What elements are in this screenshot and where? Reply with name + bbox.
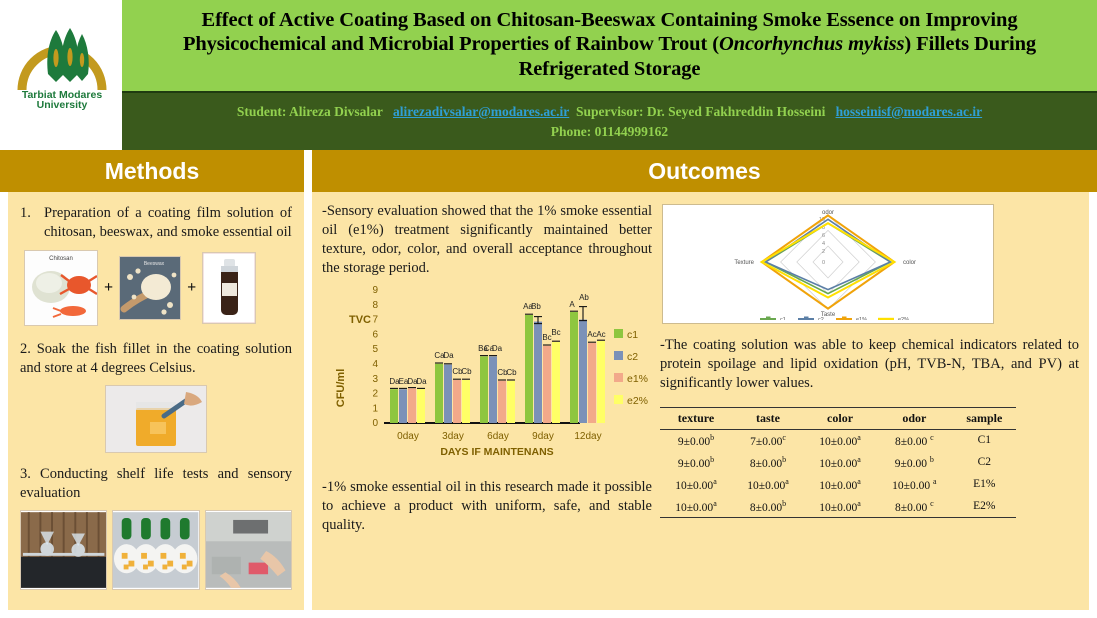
chitosan-photo-caption: Chitosan: [49, 256, 73, 262]
table-header-sample: sample: [953, 407, 1016, 429]
svg-text:3day: 3day: [442, 431, 464, 442]
bar-legend-label-c1: c1: [627, 329, 638, 341]
bar-chart-xlabel: DAYS IF MAINTENANS: [440, 446, 553, 458]
methods-panel: 1. Preparation of a coating film solutio…: [8, 192, 304, 610]
svg-text:A: A: [569, 300, 575, 309]
cell-odor: 8±0.00 c: [876, 495, 953, 517]
bar-chart-x-ticks: 0day 3day 6day 9day 12day: [397, 431, 601, 442]
tvc-bar-chart: 987 654 321 0 TVC CFU/ml: [322, 283, 652, 468]
svg-text:Ab: Ab: [579, 293, 589, 302]
cell-color: 10±0.00a: [804, 429, 876, 451]
cell-odor: 9±0.00 b: [876, 451, 953, 473]
radar-axis-label-odor: odor: [822, 210, 834, 216]
radar-legend-label-e1: e1%: [856, 317, 867, 320]
supervisor-label: Supervisor: Dr. Seyed Fakhreddin Hossein…: [576, 104, 825, 119]
radar-legend-label-c2: c2: [818, 317, 824, 320]
methods-step-3-image-row: [20, 510, 292, 590]
sensory-evaluation-plates-photo: [112, 510, 199, 590]
bar-legend-label-e2: e2%: [627, 395, 648, 407]
radar-axis-label-color: color: [903, 260, 916, 266]
bar-legend-label-e1: e1%: [627, 373, 648, 385]
cell-taste: 10±0.00a: [732, 473, 804, 495]
svg-text:4: 4: [372, 359, 378, 370]
bar-chart-y-ticks: 987 654 321 0: [372, 285, 378, 429]
bar-chart-legend: c1 c2 e1% e2%: [614, 329, 648, 407]
bar-group-0day: DaEa DaDa: [389, 377, 427, 423]
outcomes-left-column: -Sensory evaluation showed that the 1% s…: [322, 202, 652, 602]
university-logo: Tarbiat Modares University: [12, 12, 112, 112]
cell-texture: 9±0.00b: [660, 429, 732, 451]
radar-series-e1: [762, 215, 895, 308]
table-row: 9±0.00b 8±0.00b 10±0.00a 9±0.00 b C2: [660, 451, 1016, 473]
svg-text:5: 5: [372, 345, 378, 356]
methods-step-2-image-row: [20, 385, 292, 453]
plus-sign-1: +: [104, 279, 113, 297]
svg-text:Bb: Bb: [531, 302, 541, 311]
cell-sample: E1%: [953, 473, 1016, 495]
svg-text:Bc: Bc: [542, 333, 551, 342]
methods-step-3: 3. Conducting shelf life tests and senso…: [20, 465, 292, 503]
cell-color: 10±0.00a: [804, 495, 876, 517]
title-band: Effect of Active Coating Based on Chitos…: [122, 0, 1097, 93]
poster-body: 1. Preparation of a coating film solutio…: [0, 192, 1097, 618]
cell-taste: 8±0.00b: [732, 451, 804, 473]
methods-step-2: 2. Soak the fish fillet in the coating s…: [20, 340, 292, 378]
sensory-scores-table-wrap: texture taste color odor sample 9±0.00b …: [660, 407, 1079, 518]
svg-text:12day: 12day: [574, 431, 601, 442]
svg-text:Cb: Cb: [506, 368, 517, 377]
cell-odor: 8±0.00 c: [876, 429, 953, 451]
poster-root: Tarbiat Modares University Effect of Act…: [0, 0, 1097, 618]
laboratory-bench-photo: [205, 510, 292, 590]
methods-step-1-number: 1.: [20, 204, 34, 242]
bar-group-3day: CaDa CbCb: [434, 351, 472, 423]
sensory-radar-chart-svg: 0 2 4 6 8 10: [668, 208, 988, 320]
outcomes-paragraph-1: -Sensory evaluation showed that the 1% s…: [322, 202, 652, 277]
outcomes-paragraph-2: -1% smoke essential oil in this research…: [322, 478, 652, 535]
outcomes-panel: -Sensory evaluation showed that the 1% s…: [312, 192, 1089, 610]
methods-step-1-text: Preparation of a coating film solution o…: [44, 204, 292, 242]
radar-legend-label-c1: c1: [780, 317, 786, 320]
cell-texture: 9±0.00b: [660, 451, 732, 473]
cell-sample: C2: [953, 451, 1016, 473]
lab-distillation-setup-photo: [20, 510, 107, 590]
svg-text:6: 6: [822, 233, 825, 239]
poster-header: Tarbiat Modares University Effect of Act…: [0, 0, 1097, 150]
fillet-soaking-beaker-photo: [105, 385, 207, 453]
supervisor-email-link[interactable]: hosseinisf@modares.ac.ir: [836, 104, 983, 119]
svg-text:Da: Da: [443, 351, 454, 360]
svg-text:Da: Da: [492, 344, 503, 353]
svg-text:9: 9: [372, 285, 378, 296]
radar-gridlines: [781, 215, 876, 309]
bar-group-6day: BaCaDa CbCb: [478, 344, 517, 423]
svg-text:2: 2: [822, 249, 825, 255]
outcomes-right-column: 0 2 4 6 8 10: [652, 202, 1079, 602]
table-row: 9±0.00b 7±0.00c 10±0.00a 8±0.00 c C1: [660, 429, 1016, 451]
svg-text:4: 4: [822, 241, 825, 247]
cell-texture: 10±0.00a: [660, 495, 732, 517]
svg-text:Ac: Ac: [596, 330, 605, 339]
svg-text:Ac: Ac: [587, 330, 596, 339]
bar-group-9day: AaBb BcBc: [523, 302, 561, 423]
poster-title: Effect of Active Coating Based on Chitos…: [132, 8, 1087, 81]
title-species-italic: Oncorhynchus mykiss: [719, 33, 904, 55]
svg-text:6day: 6day: [487, 431, 509, 442]
cell-sample: C1: [953, 429, 1016, 451]
cell-texture: 10±0.00a: [660, 473, 732, 495]
sensory-scores-table: texture taste color odor sample 9±0.00b …: [660, 407, 1016, 518]
radar-axis-label-texture: Texture: [734, 260, 754, 266]
table-header-color: color: [804, 407, 876, 429]
tvc-bar-chart-svg: 987 654 321 0 TVC CFU/ml: [322, 283, 652, 468]
contact-band: Student: Alireza Divsalar alirezadivsala…: [122, 93, 1097, 150]
cell-taste: 8±0.00b: [732, 495, 804, 517]
svg-text:Bc: Bc: [551, 328, 560, 337]
smoke-essential-oil-bottle-photo: [202, 252, 256, 324]
svg-text:Cb: Cb: [461, 367, 472, 376]
tarbiat-modares-logo-icon: Tarbiat Modares University: [12, 12, 112, 112]
svg-text:9day: 9day: [532, 431, 554, 442]
svg-text:6: 6: [372, 330, 378, 341]
logo-line2: University: [37, 99, 88, 111]
methods-step-1: 1. Preparation of a coating film solutio…: [20, 204, 292, 242]
bar-group-12day: AAb AcAc: [569, 293, 605, 423]
contact-line-authors: Student: Alireza Divsalar alirezadivsala…: [237, 102, 982, 122]
outcomes-paragraph-3: -The coating solution was able to keep c…: [660, 336, 1079, 393]
bar-chart-ylabel-bottom: CFU/ml: [335, 369, 347, 408]
radar-legend-label-e2: e2%: [898, 317, 909, 320]
svg-text:7: 7: [372, 315, 378, 326]
methods-heading: Methods: [0, 150, 304, 192]
beeswax-photo-caption: Beeswax: [144, 261, 165, 267]
section-heading-bar: Methods Outcomes: [0, 150, 1097, 192]
svg-text:Da: Da: [416, 377, 427, 386]
outcomes-heading: Outcomes: [312, 150, 1097, 192]
title-column: Effect of Active Coating Based on Chitos…: [122, 0, 1097, 150]
beeswax-pellets-spoon-photo: Beeswax: [119, 256, 181, 320]
svg-text:1: 1: [372, 404, 378, 415]
svg-text:0: 0: [822, 260, 825, 266]
bar-legend-label-c2: c2: [627, 351, 638, 363]
cell-color: 10±0.00a: [804, 473, 876, 495]
radar-series-e2: [762, 223, 895, 297]
methods-ingredient-images: Chitosan + Beeswax: [24, 250, 292, 326]
svg-text:8: 8: [372, 300, 378, 311]
table-header-texture: texture: [660, 407, 732, 429]
svg-text:0day: 0day: [397, 431, 419, 442]
cell-color: 10±0.00a: [804, 451, 876, 473]
svg-text:2: 2: [372, 389, 378, 400]
cell-taste: 7±0.00c: [732, 429, 804, 451]
table-header-odor: odor: [876, 407, 953, 429]
table-header-row: texture taste color odor sample: [660, 407, 1016, 429]
table-row: 10±0.00a 8±0.00b 10±0.00a 8±0.00 c E2%: [660, 495, 1016, 517]
chitosan-powder-crab-photo: Chitosan: [24, 250, 98, 326]
svg-text:0: 0: [372, 419, 378, 430]
table-row: 10±0.00a 10±0.00a 10±0.00a 10±0.00 a E1%: [660, 473, 1016, 495]
cell-odor: 10±0.00 a: [876, 473, 953, 495]
university-logo-cell: Tarbiat Modares University: [0, 0, 122, 150]
plus-sign-2: +: [187, 279, 196, 297]
svg-text:3: 3: [372, 374, 378, 385]
sensory-radar-chart: 0 2 4 6 8 10: [662, 204, 994, 324]
student-label: Student: Alireza Divsalar: [237, 104, 383, 119]
table-header-taste: taste: [732, 407, 804, 429]
bar-chart-ylabel-top: TVC: [349, 314, 371, 326]
phone-number: Phone: 01144999162: [551, 122, 668, 142]
heading-divider: [304, 150, 312, 192]
student-email-link[interactable]: alirezadivsalar@modares.ac.ir: [393, 104, 569, 119]
cell-sample: E2%: [953, 495, 1016, 517]
